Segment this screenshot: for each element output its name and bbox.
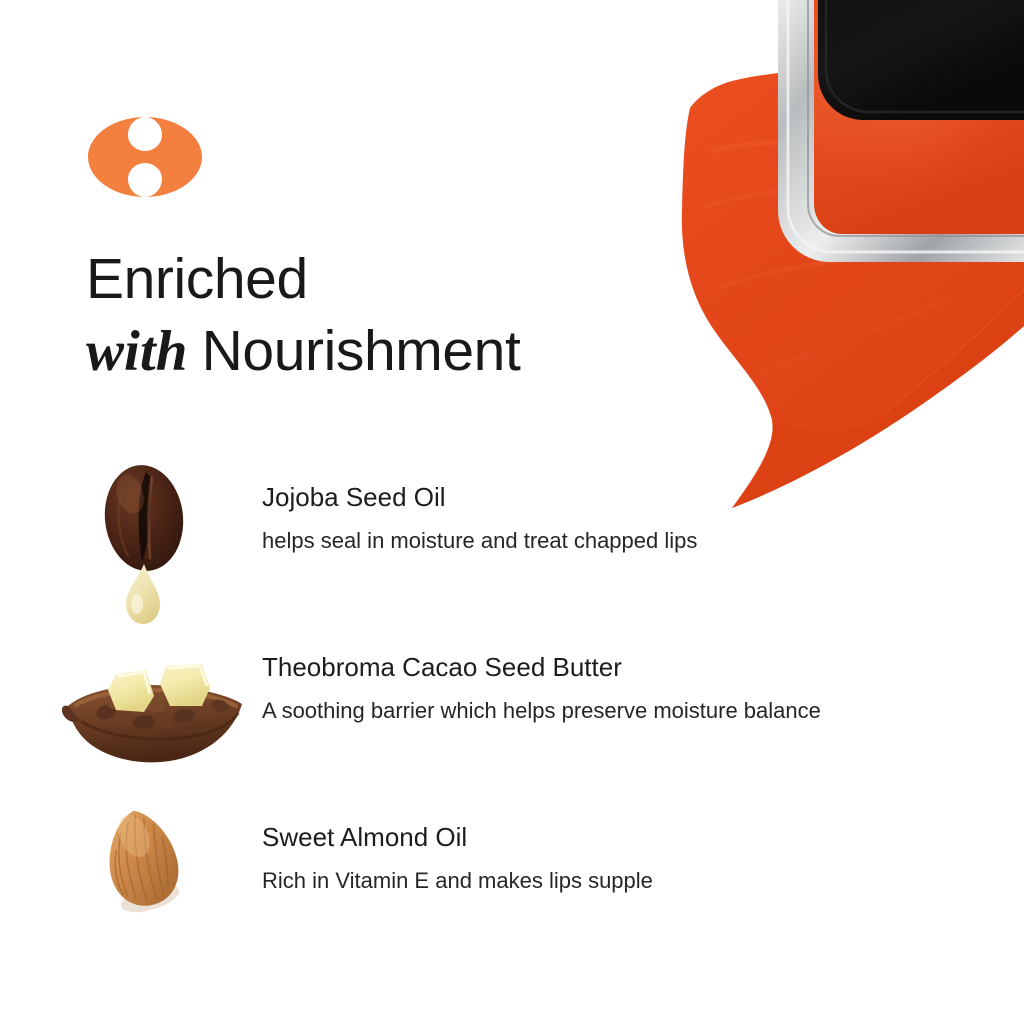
headline-emphasis: with xyxy=(86,320,202,383)
almond-icon xyxy=(86,802,206,922)
ingredient-name: Jojoba Seed Oil xyxy=(262,480,990,514)
page-title: Enriched with Nourishment xyxy=(86,243,726,388)
headline-line-1: Enriched xyxy=(86,243,726,315)
ingredient-name: Theobroma Cacao Seed Butter xyxy=(262,650,990,684)
headline-line-2: with Nourishment xyxy=(86,315,726,388)
infographic-canvas: Enriched with Nourishment xyxy=(0,0,1024,1024)
ingredient-image-jojoba xyxy=(60,452,262,622)
ingredient-text: Jojoba Seed Oil helps seal in moisture a… xyxy=(262,452,990,556)
balm-tin xyxy=(778,0,1024,262)
paint-swatch xyxy=(682,0,1024,508)
ingredient-row: Theobroma Cacao Seed Butter A soothing b… xyxy=(60,622,990,792)
ingredient-description: A soothing barrier which helps preserve … xyxy=(262,696,990,726)
ingredient-image-almond xyxy=(60,792,262,962)
ingredient-name: Sweet Almond Oil xyxy=(262,820,990,854)
ingredient-text: Sweet Almond Oil Rich in Vitamin E and m… xyxy=(262,792,990,896)
jojoba-seed-with-oil-drop-icon xyxy=(92,458,212,628)
ingredient-description: Rich in Vitamin E and makes lips supple xyxy=(262,866,990,896)
ingredient-image-cacao xyxy=(60,622,262,792)
ingredient-row: Jojoba Seed Oil helps seal in moisture a… xyxy=(60,452,990,622)
cacao-pod-with-cocoa-butter-icon xyxy=(60,660,250,770)
headline-rest: Nourishment xyxy=(202,319,521,383)
brand-logo-icon xyxy=(88,117,202,197)
ingredient-list: Jojoba Seed Oil helps seal in moisture a… xyxy=(60,452,990,962)
ingredient-description: helps seal in moisture and treat chapped… xyxy=(262,526,990,556)
ingredient-row: Sweet Almond Oil Rich in Vitamin E and m… xyxy=(60,792,990,962)
ingredient-text: Theobroma Cacao Seed Butter A soothing b… xyxy=(262,622,990,726)
brand-logo-mark xyxy=(88,117,202,197)
